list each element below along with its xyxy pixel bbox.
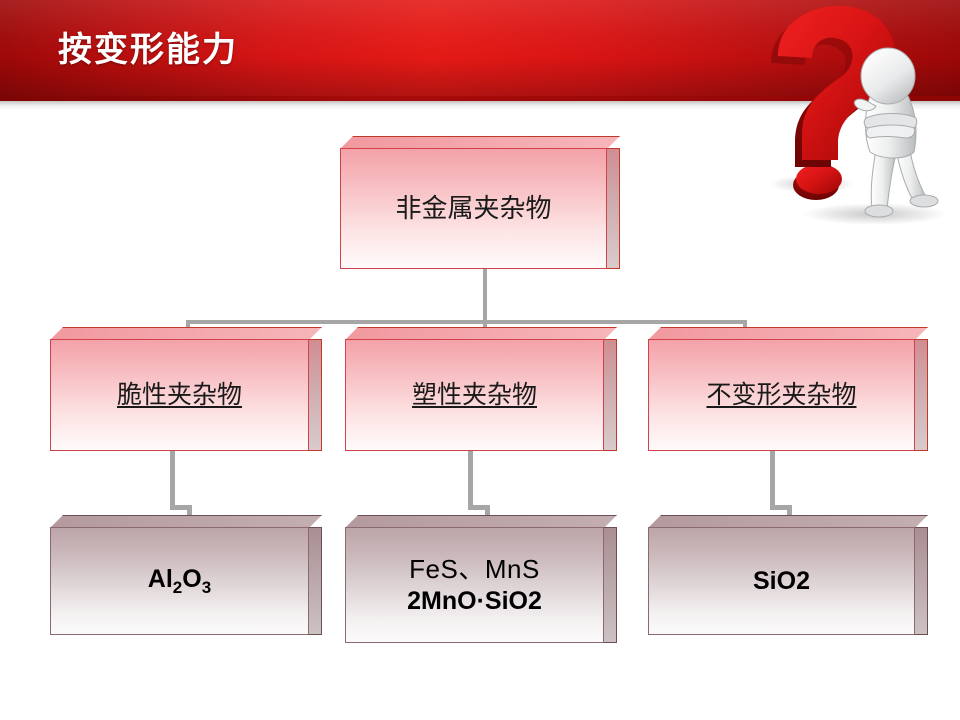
connector-elbow-brittle-vert bbox=[170, 447, 175, 509]
formula-al-sub: 2 bbox=[173, 578, 182, 597]
node-side-face bbox=[604, 339, 617, 451]
formula-line-2: 2MnO·SiO2 bbox=[407, 586, 542, 617]
node-brittle-inclusions[interactable]: 脆性夹杂物 bbox=[50, 327, 322, 451]
formula-al: Al bbox=[148, 565, 173, 593]
formula-o-sub: 3 bbox=[202, 578, 211, 597]
node-label-al2o3: Al2O3 bbox=[142, 564, 217, 599]
formula-line-1: FeS、MnS bbox=[407, 554, 542, 586]
node-side-face bbox=[915, 339, 928, 451]
connector-elbow-nondeformable-vert bbox=[770, 447, 775, 509]
node-side-face bbox=[604, 527, 617, 643]
connector-horizontal-bar bbox=[186, 320, 747, 324]
node-plastic-inclusions[interactable]: 塑性夹杂物 bbox=[345, 327, 617, 451]
node-label-sio2: SiO2 bbox=[747, 566, 816, 597]
node-side-face bbox=[309, 527, 322, 635]
page-title: 按变形能力 bbox=[58, 22, 238, 71]
node-non-deformable-inclusions[interactable]: 不变形夹杂物 bbox=[648, 327, 928, 451]
node-front-face: 不变形夹杂物 bbox=[648, 339, 915, 451]
formula-o: O bbox=[182, 565, 201, 593]
header-shadow bbox=[0, 101, 960, 110]
node-label-brittle-inclusions: 脆性夹杂物 bbox=[111, 380, 248, 411]
node-label-plastic-inclusions: 塑性夹杂物 bbox=[406, 380, 543, 411]
node-label-non-deformable-inclusions: 不变形夹杂物 bbox=[700, 380, 862, 411]
node-side-face bbox=[607, 148, 620, 269]
connector-root-stem bbox=[483, 268, 487, 324]
node-al2o3[interactable]: Al2O3 bbox=[50, 515, 322, 635]
node-front-face: FeS、MnS 2MnO·SiO2 bbox=[345, 527, 604, 643]
node-side-face bbox=[309, 339, 322, 451]
node-sio2[interactable]: SiO2 bbox=[648, 515, 928, 635]
node-label-fes-mns: FeS、MnS 2MnO·SiO2 bbox=[401, 554, 548, 616]
node-front-face: 脆性夹杂物 bbox=[50, 339, 309, 451]
node-front-face: SiO2 bbox=[648, 527, 915, 635]
connector-elbow-plastic-vert bbox=[468, 447, 473, 509]
node-front-face: 非金属夹杂物 bbox=[340, 148, 607, 269]
node-fes-mns[interactable]: FeS、MnS 2MnO·SiO2 bbox=[345, 515, 617, 643]
node-side-face bbox=[915, 527, 928, 635]
node-label-non-metallic-inclusions: 非金属夹杂物 bbox=[389, 193, 557, 225]
node-non-metallic-inclusions[interactable]: 非金属夹杂物 bbox=[340, 136, 620, 269]
node-front-face: Al2O3 bbox=[50, 527, 309, 635]
node-front-face: 塑性夹杂物 bbox=[345, 339, 604, 451]
